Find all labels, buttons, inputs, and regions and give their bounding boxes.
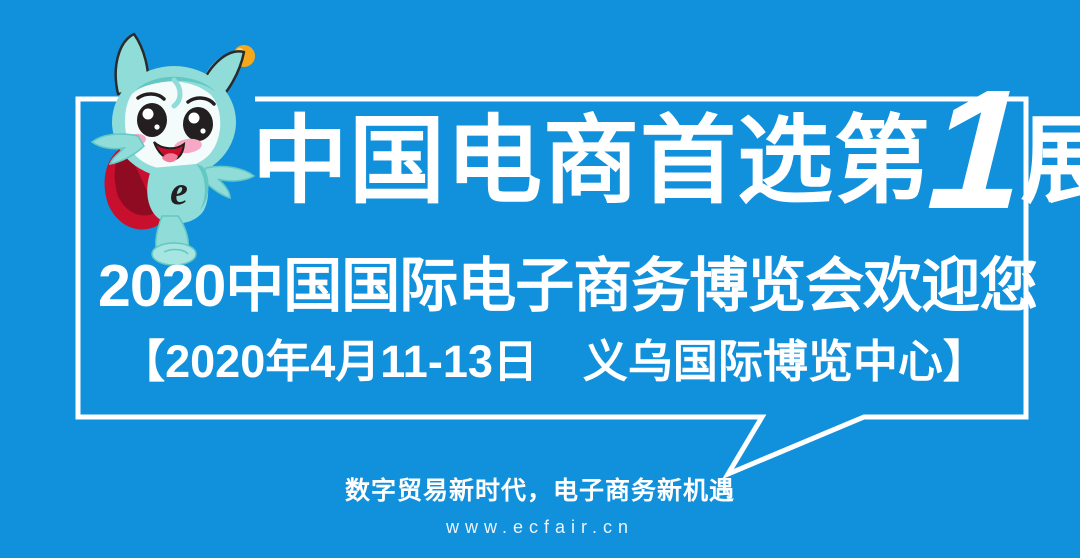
headline-before: 中国电商首选第	[252, 106, 931, 218]
footer-website-url[interactable]: www.ecfair.cn	[0, 516, 1080, 538]
mascot-illustration: e	[78, 18, 278, 266]
footer-tagline: 数字贸易新时代，电子商务新机遇	[0, 476, 1080, 506]
ecfair-promotional-banner: e 中国电商首选第1展 2020中国国际电子商务博览会欢迎您 【2020年4月1…	[0, 0, 1080, 558]
date-venue-line: 【2020年4月11-13日 义乌国际博览中心】	[98, 335, 1010, 389]
subheadline: 2020中国国际电子商务博览会欢迎您	[98, 253, 1010, 319]
mascot-chest-e-logo: e	[170, 168, 188, 213]
headline: 中国电商首选第1展	[252, 106, 1012, 218]
headline-number-one: 1	[926, 94, 1027, 206]
headline-after: 展	[1021, 106, 1080, 218]
mascot-torso: e	[147, 164, 208, 224]
